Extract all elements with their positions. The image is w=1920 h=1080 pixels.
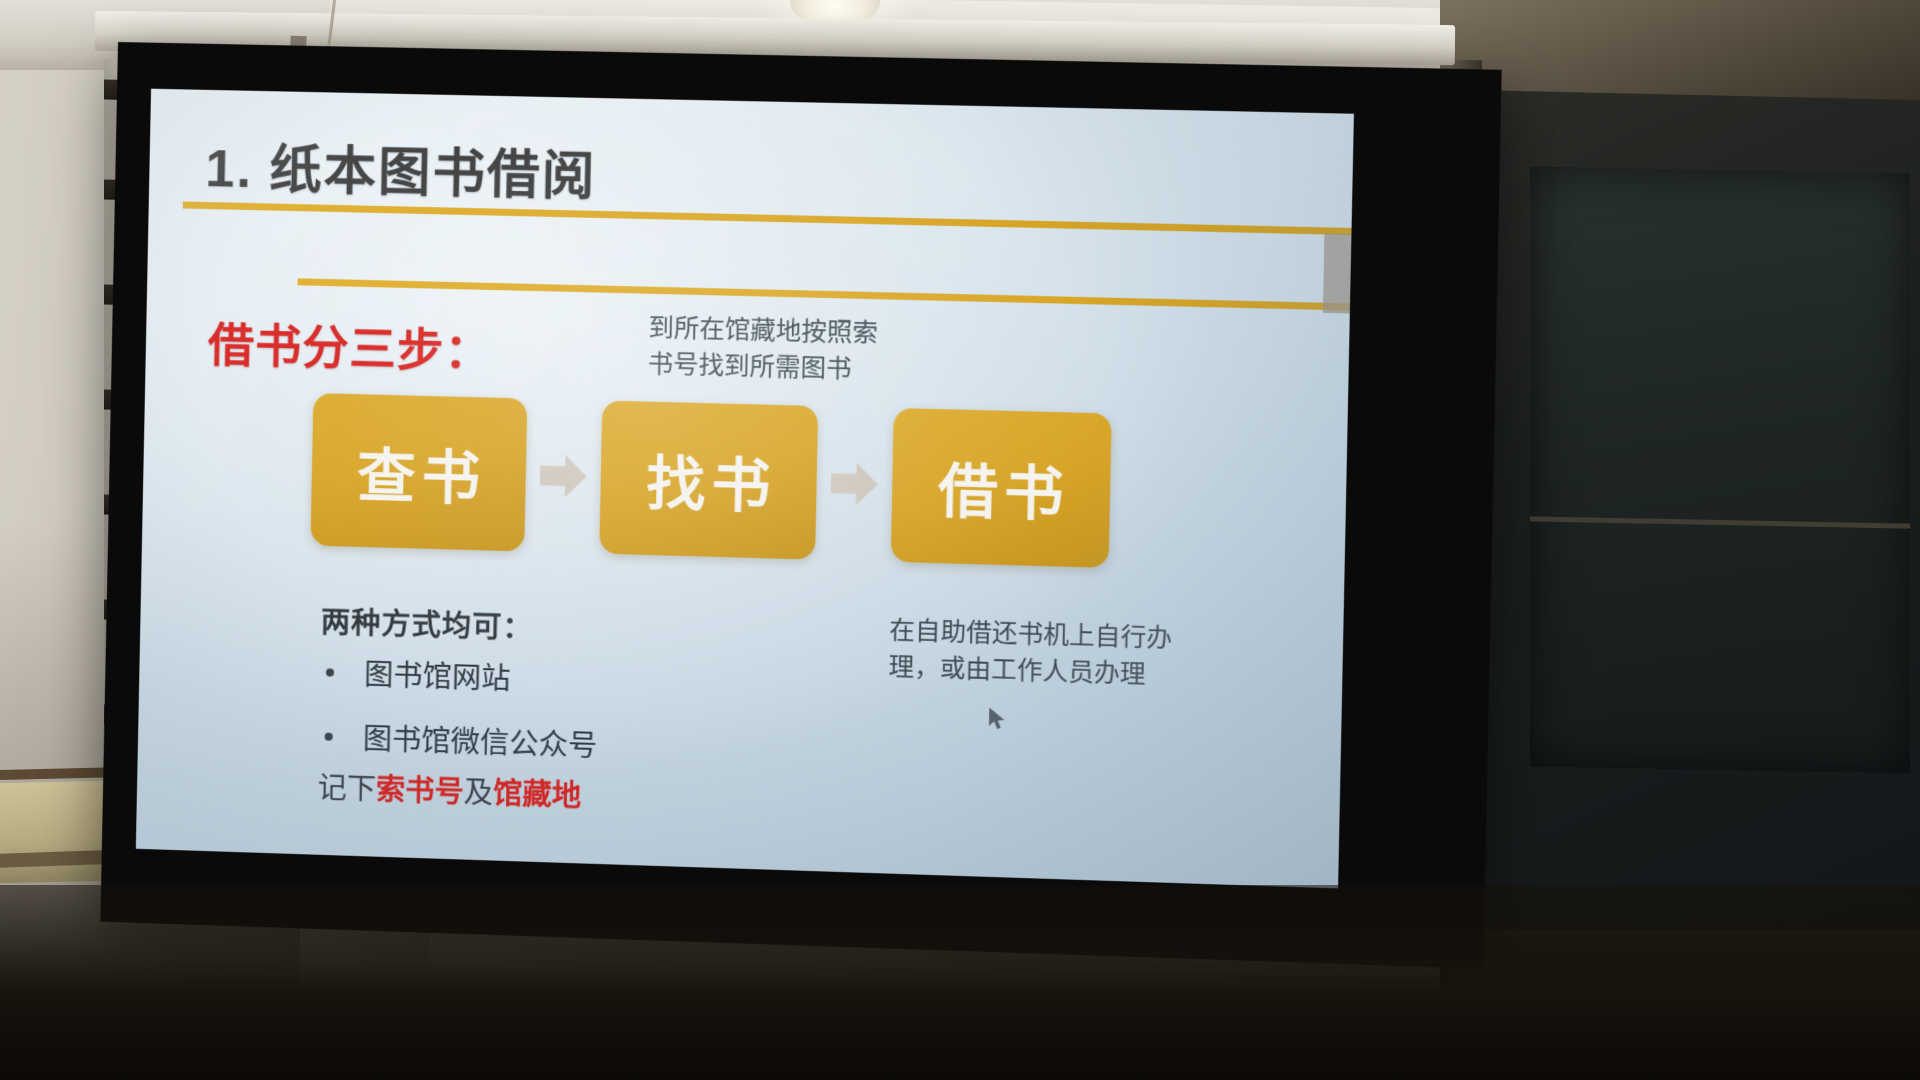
secondary-rule — [298, 278, 1350, 310]
list-item-label: 图书馆微信公众号 — [363, 716, 598, 766]
note-highlight-2: 馆藏地 — [493, 778, 582, 813]
window-glass — [1530, 166, 1910, 773]
slide-content: 1. 纸本图书借阅 借书分三步： 到所在馆藏地按照索 书号找到所需图书 查书 找… — [136, 89, 1354, 889]
corner-accent-block — [1323, 233, 1352, 313]
bullet-dot-icon — [326, 668, 334, 676]
flow-diagram: 查书 找书 借书 — [310, 393, 1111, 568]
foreground-shadow — [0, 885, 1920, 1080]
list-item-label: 图书馆网站 — [364, 651, 511, 698]
note-highlight-1: 索书号 — [376, 774, 464, 809]
sub-heading: 两种方式均可： — [321, 599, 534, 647]
note-bottom-left: 记下索书号及馆藏地 — [317, 764, 581, 815]
projection-screen: 1. 纸本图书借阅 借书分三步： 到所在馆藏地按照索 书号找到所需图书 查书 找… — [100, 42, 1501, 969]
arrow-right-icon — [816, 461, 893, 508]
list-item: 图书馆微信公众号 — [324, 715, 598, 766]
slide-title: 1. 纸本图书借阅 — [205, 126, 597, 210]
note-middle: 及 — [463, 777, 493, 810]
list-item: 图书馆网站 — [326, 650, 600, 700]
bullet-dot-icon — [325, 733, 333, 741]
flow-step-1: 查书 — [310, 393, 527, 551]
arrow-right-icon — [525, 453, 601, 499]
note-right: 在自助借还书机上自行办 理，或由工作人员办理 — [888, 612, 1172, 694]
flow-step-3: 借书 — [891, 408, 1112, 568]
projected-slide: 1. 纸本图书借阅 借书分三步： 到所在馆藏地按照索 书号找到所需图书 查书 找… — [136, 89, 1354, 889]
note-top: 到所在馆藏地按照索 书号找到所需图书 — [647, 311, 878, 388]
note-prefix: 记下 — [317, 772, 376, 806]
room-scene: 1. 纸本图书借阅 借书分三步： 到所在馆藏地按照索 书号找到所需图书 查书 找… — [0, 0, 1920, 1080]
red-heading: 借书分三步： — [207, 308, 492, 381]
flow-step-2: 找书 — [599, 400, 818, 559]
title-underline — [183, 201, 1352, 235]
